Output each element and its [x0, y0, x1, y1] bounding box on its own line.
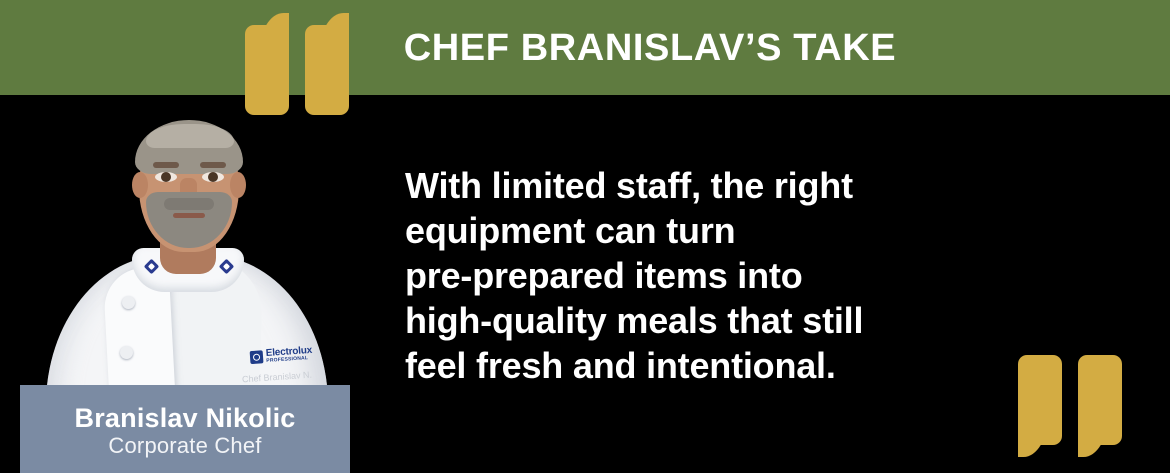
close-quote-bar-2 [1018, 355, 1062, 445]
chef-role: Corporate Chef [108, 433, 261, 458]
chef-mouth [173, 213, 205, 218]
chef-ear-right [230, 172, 246, 198]
chef-ear-left [132, 172, 148, 198]
electrolux-logo-text: Electrolux PROFESSIONAL [266, 346, 313, 364]
electrolux-brand-mark-icon [250, 350, 264, 364]
close-quote-stroke-2 [1018, 353, 1062, 445]
quote-line: high-quality meals that still [405, 298, 1005, 343]
chef-hair-highlight [146, 124, 234, 148]
page-title: CHEF BRANISLAV’S TAKE [0, 0, 1170, 95]
chef-name: Branislav Nikolic [75, 403, 296, 433]
quote-line: With limited staff, the right [405, 163, 1005, 208]
chef-eyebrow-right [200, 162, 226, 168]
quote-line: pre-prepared items into [405, 253, 1005, 298]
chef-eyebrow-left [153, 162, 179, 168]
chef-iris-left [161, 172, 171, 182]
chef-iris-right [208, 172, 218, 182]
chef-quote-card: CHEF BRANISLAV’S TAKE [0, 0, 1170, 473]
close-quote-bar-1 [1078, 355, 1122, 445]
jacket-button [120, 346, 133, 359]
close-quote-icon [1018, 353, 1122, 445]
quote-text-block: With limited staff, the right equipment … [405, 163, 1005, 388]
close-quote-stroke-1 [1078, 353, 1122, 445]
quote-line: equipment can turn [405, 208, 1005, 253]
chef-name-plate: Branislav Nikolic Corporate Chef [20, 385, 350, 473]
chef-moustache [164, 198, 214, 210]
jacket-button [122, 296, 135, 309]
quote-line: feel fresh and intentional. [405, 343, 1005, 388]
